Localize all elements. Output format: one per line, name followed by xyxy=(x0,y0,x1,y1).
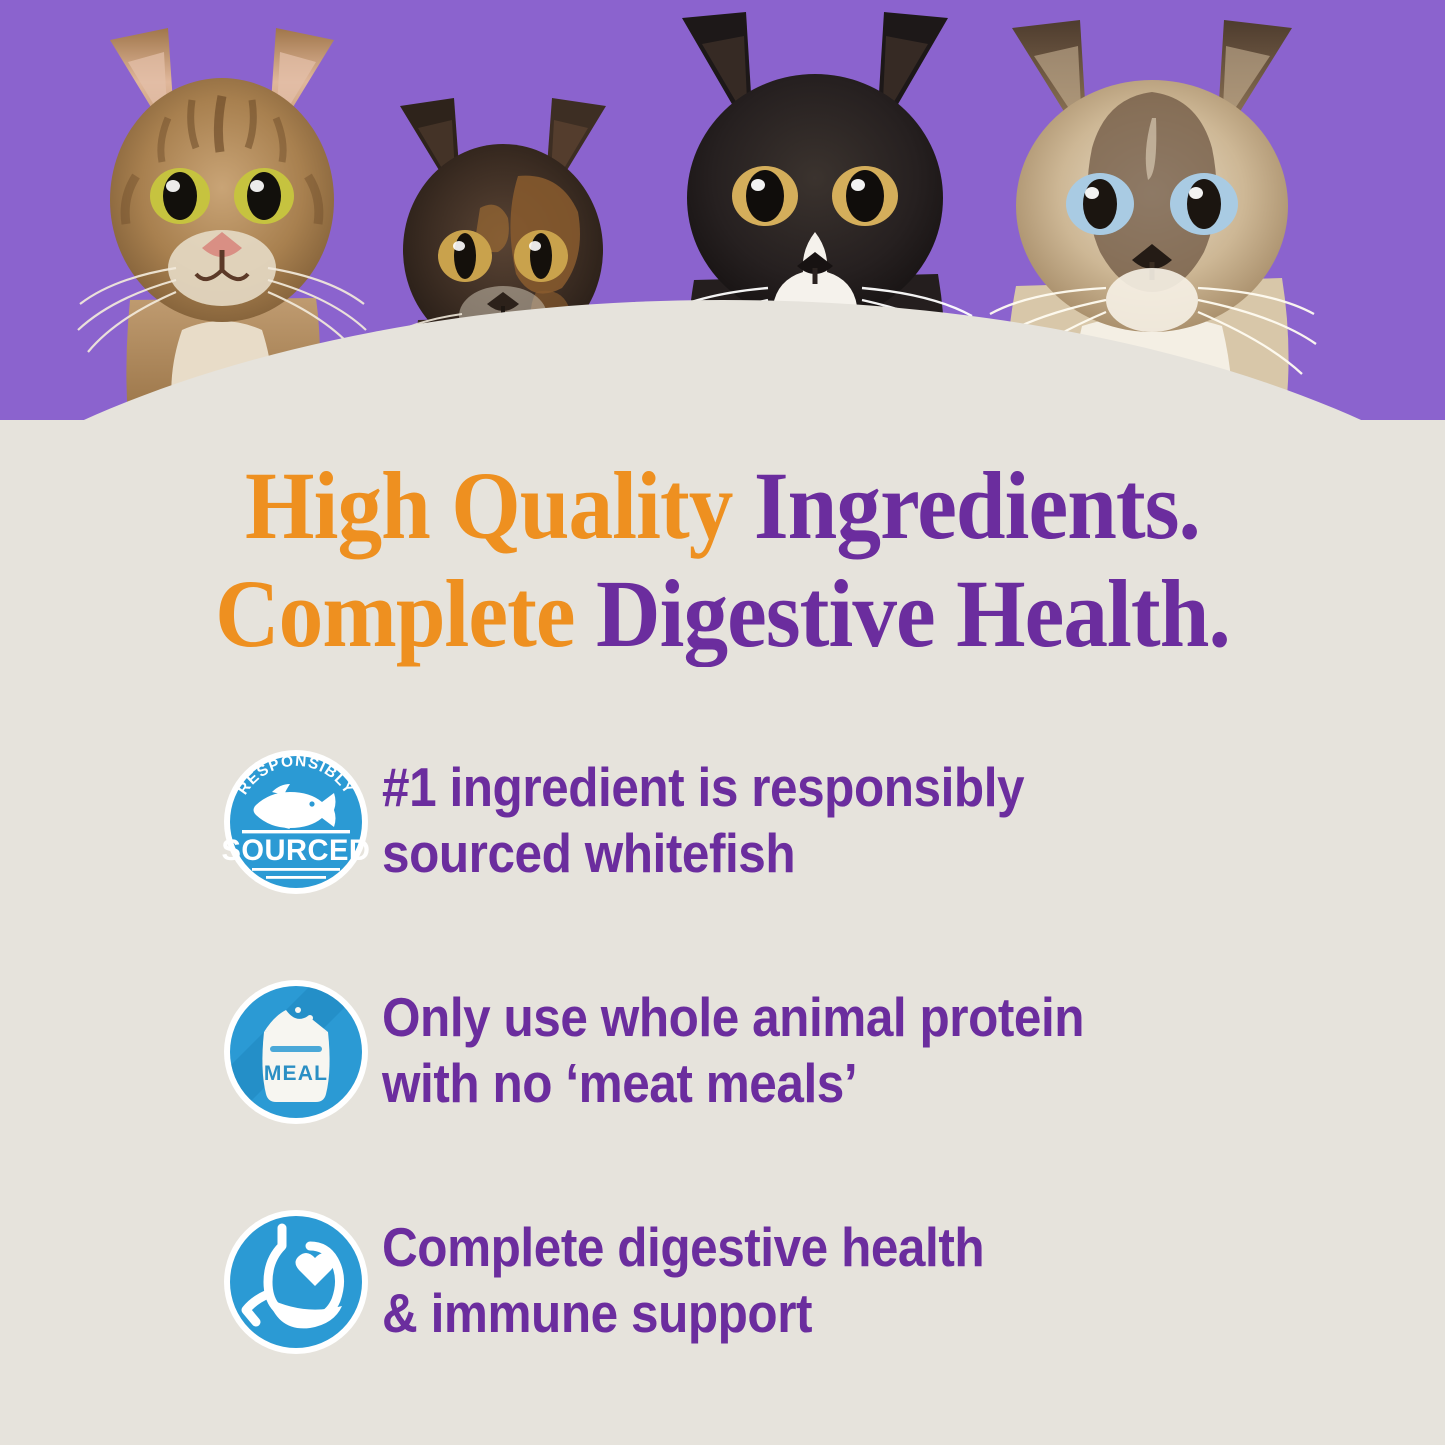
feature-text-digestive-health: Complete digestive health & immune suppo… xyxy=(382,1202,1271,1346)
page-title: High Quality Ingredients. Complete Diges… xyxy=(51,452,1395,667)
feature-item-whole-animal-protein: MEAL Only use whole animal protein with … xyxy=(210,972,1370,1132)
feature-text-whole-animal-protein: Only use whole animal protein with no ‘m… xyxy=(382,972,1271,1116)
headline-line-1-purple: Ingredients. xyxy=(754,452,1200,559)
responsibly-sourced-fish-badge-icon: RESPONSIBLY SOURCED xyxy=(210,742,382,902)
feature-item-responsibly-sourced: RESPONSIBLY SOURCED #1 ingredient is res… xyxy=(210,742,1370,902)
headline-line-1: High Quality Ingredients. xyxy=(51,452,1395,560)
feature-item-digestive-health: Complete digestive health & immune suppo… xyxy=(210,1202,1370,1362)
svg-text:MEAL: MEAL xyxy=(264,1062,328,1085)
svg-text:SOURCED: SOURCED xyxy=(221,834,370,867)
headline-line-2: Complete Digestive Health. xyxy=(51,560,1395,668)
headline-line-2-orange: Complete xyxy=(215,560,596,667)
cat-photo-banner xyxy=(0,0,1445,420)
stomach-heart-icon xyxy=(210,1202,382,1362)
headline-line-2-purple: Digestive Health. xyxy=(596,560,1230,667)
meal-sack-icon: MEAL xyxy=(210,972,382,1132)
feature-text-responsibly-sourced: #1 ingredient is responsibly sourced whi… xyxy=(382,742,1271,886)
product-infographic: High Quality Ingredients. Complete Diges… xyxy=(0,0,1445,1445)
headline-line-1-orange: High Quality xyxy=(245,452,754,559)
